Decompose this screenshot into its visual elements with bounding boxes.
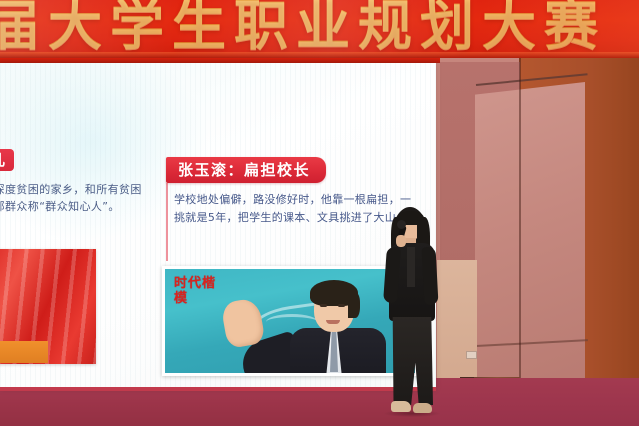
- event-banner: 届大学生职业规划大赛: [0, 0, 639, 58]
- presenter-arm-right: [421, 247, 438, 306]
- slide-left-title: 好女儿: [0, 149, 14, 171]
- slide-left-photo-band: [0, 341, 48, 363]
- banner-sheen: [0, 0, 639, 58]
- presenter-shoe-left: [391, 401, 411, 412]
- slide-main-title: 张玉滚：扁担校长: [166, 157, 326, 183]
- slide-main-title-wrap: 张玉滚：扁担校长: [166, 157, 326, 183]
- wall-socket-small: [466, 351, 477, 359]
- presenter: [372, 207, 448, 419]
- presenter-hand: [396, 235, 406, 247]
- slide-left-panel: 好女儿 作，回到深度贫困的家乡，和所有贫困户，被干部群众称“群众知心人”。 荣誉…: [0, 149, 154, 389]
- microphone-head-icon: [397, 220, 406, 229]
- presenter-jacket-opening: [407, 247, 415, 287]
- wall-panel-b: [475, 82, 585, 398]
- wall-seam-vertical: [519, 56, 521, 396]
- floor-carpet-right: [430, 378, 639, 426]
- projection-screen: 好女儿 作，回到深度贫困的家乡，和所有贫困户，被干部群众称“群众知心人”。 荣誉…: [0, 63, 436, 390]
- screen-bottom-edge: [0, 387, 436, 391]
- slide-main-accent-bar: [166, 183, 168, 261]
- slide-left-body: 作，回到深度贫困的家乡，和所有贫困户，被干部群众称“群众知心人”。: [0, 181, 154, 215]
- presentation-scene: 届大学生职业规划大赛 好女儿 作，回到深度贫困的家乡，和所有贫困户，被干部群众称…: [0, 0, 639, 426]
- presenter-pants: [391, 317, 433, 405]
- presenter-shoe-right: [413, 403, 432, 413]
